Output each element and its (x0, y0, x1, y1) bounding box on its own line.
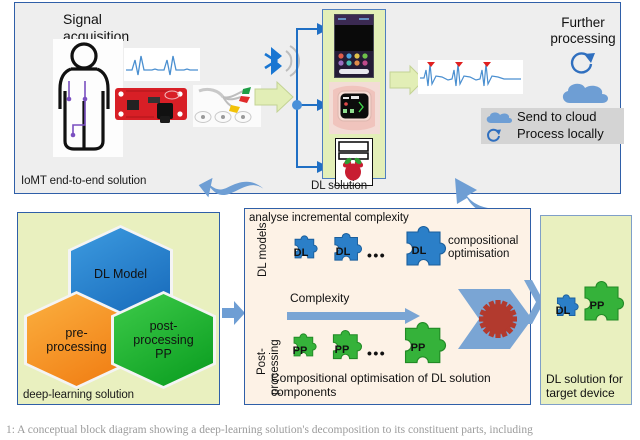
panel-target-device-solution: DL PP DL solution for target device (540, 215, 632, 405)
panel-comp-label-line1: Compositional optimisation of DL solutio… (271, 371, 527, 385)
legend-refresh-icon (485, 127, 503, 143)
puzzle-piece-dl-3-label: DL (393, 245, 445, 257)
legend-box: Send to cloud Process locally (481, 108, 624, 144)
comp-opt-line2: optimisation (448, 248, 532, 261)
hexagon-dl-model-label: DL Model (94, 267, 147, 281)
comp-opt-line1: compositional (448, 235, 532, 248)
puzzle-piece-dl-3: DL (393, 227, 445, 275)
panel-target-label: DL solution for target device (546, 372, 632, 400)
gear-icon (479, 300, 517, 338)
panel-comp-label-line2: components (271, 385, 527, 399)
panel-iomt-end-to-end: Signal acquisition (14, 2, 621, 194)
hexagon-pre-processing-line2: processing (46, 340, 106, 354)
legend-cloud-icon (485, 111, 513, 125)
puzzle-piece-dl-2: DL (323, 233, 363, 271)
ellipsis-dl-row: ••• (367, 247, 386, 263)
dl-solution-column-label: DL solution (311, 180, 367, 193)
panel-iomt-label: IoMT end-to-end solution (21, 175, 146, 188)
further-processing-line1: Further (539, 15, 627, 31)
compositional-optimisation-label: compositional optimisation (448, 235, 532, 261)
arrow-dl-to-comp (222, 300, 246, 326)
puzzle-piece-dl-1-label: DL (284, 247, 318, 259)
puzzle-piece-dl-1: DL (284, 235, 318, 269)
puzzle-piece-pp-1-label: PP (283, 345, 317, 357)
cloud-icon (558, 81, 614, 109)
raspberry-pi-device (335, 138, 373, 186)
ecg-waveform-raw (124, 48, 200, 81)
legend-item-send-to-cloud: Send to cloud (517, 109, 597, 124)
legend-item-process-locally: Process locally (517, 126, 604, 141)
further-processing-label: Further processing (539, 15, 627, 46)
figure-caption: 1: A conceptual block diagram showing a … (6, 424, 638, 436)
puzzle-piece-pp-2-label: PP (321, 344, 363, 356)
ellipsis-pp-row: ••• (367, 345, 386, 361)
puzzle-piece-pp-3-label: PP (391, 342, 445, 354)
signal-acquisition-title-line1: Signal (63, 11, 183, 28)
vertical-label-post-line1: Post- (256, 348, 268, 375)
further-processing-line2: processing (539, 31, 627, 47)
hexagon-post-processing-line3: PP (155, 347, 172, 361)
target-puzzle-piece-pp-label: PP (571, 300, 623, 312)
refresh-circular-arrow-icon (566, 48, 600, 76)
panel-deep-learning-solution: DL Model pre- processing post- processin… (17, 212, 220, 405)
dl-solution-device-column (322, 9, 386, 179)
complexity-arrow (287, 308, 421, 324)
hexagon-pre-processing-line1: pre- (65, 326, 87, 340)
target-puzzle-piece-pp: PP (571, 280, 623, 332)
panel-target-label-line1: DL solution for (546, 372, 632, 386)
smartphone-device (334, 14, 374, 78)
complexity-label: Complexity (290, 291, 349, 305)
panel-comp-label: Compositional optimisation of DL solutio… (271, 371, 527, 399)
comp-top-label: analyse incremental complexity (249, 212, 409, 224)
puzzle-piece-pp-1: PP (283, 333, 317, 367)
hexagon-post-processing-line1: post- (150, 319, 178, 333)
panel-compositional-optimisation: analyse incremental complexity DL models… (244, 208, 531, 405)
puzzle-piece-pp-3: PP (391, 323, 445, 373)
figure-canvas: Signal acquisition (0, 0, 640, 440)
panel-target-label-line2: target device (546, 386, 632, 400)
panel-dl-label: deep-learning solution (23, 389, 134, 402)
ecg-waveform-annotated (418, 60, 523, 94)
human-body-illustration (53, 39, 123, 157)
hexagon-post-processing-line2: processing (133, 333, 193, 347)
puzzle-piece-pp-2: PP (321, 330, 363, 370)
ecg-sensor-board (114, 83, 188, 125)
green-arrow-to-dl-solution (255, 81, 295, 113)
puzzle-piece-dl-2-label: DL (323, 246, 363, 258)
electrode-leads (193, 85, 261, 127)
smartwatch-device (329, 82, 380, 134)
vertical-label-dl-models: DL models (257, 222, 269, 277)
